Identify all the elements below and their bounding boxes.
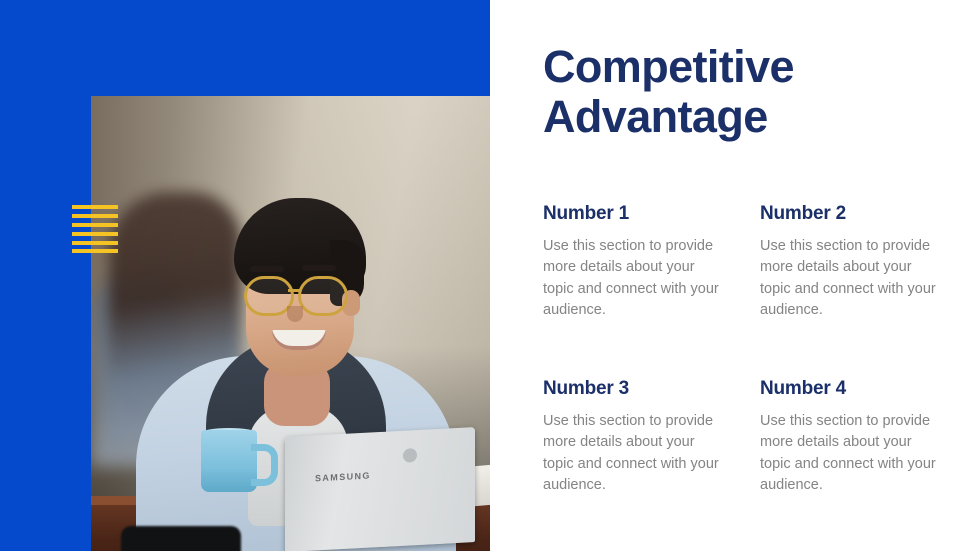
stripe-line [72, 232, 118, 236]
stripe-line [72, 241, 118, 245]
feature-grid: Number 1 Use this section to provide mor… [543, 203, 963, 497]
laptop: SAMSUNG [285, 427, 475, 551]
slide-canvas: SAMSUNG CompetitiveAdvantage Number 1 Us… [0, 0, 980, 551]
feature-heading-3: Number 3 [543, 378, 760, 400]
slide-title-line-2: Advantage [543, 91, 768, 142]
glasses-lens-right [298, 276, 348, 316]
slide-title: CompetitiveAdvantage [543, 42, 943, 143]
feature-item-4: Number 4 Use this section to provide mor… [760, 378, 963, 497]
feature-body-3: Use this section to provide more details… [543, 411, 729, 497]
feature-item-1: Number 1 Use this section to provide mor… [543, 203, 760, 378]
hero-photo: SAMSUNG [91, 96, 490, 551]
feature-body-2: Use this section to provide more details… [760, 236, 946, 322]
feature-item-2: Number 2 Use this section to provide mor… [760, 203, 963, 378]
stripe-line [72, 214, 118, 218]
mug-handle [251, 444, 278, 486]
chair [121, 526, 241, 551]
round-glasses [242, 276, 360, 310]
feature-body-1: Use this section to provide more details… [543, 236, 729, 322]
laptop-brand-label: SAMSUNG [315, 470, 371, 483]
stripe-line [72, 223, 118, 227]
feature-body-4: Use this section to provide more details… [760, 411, 946, 497]
feature-heading-2: Number 2 [760, 203, 963, 225]
feature-item-3: Number 3 Use this section to provide mor… [543, 378, 760, 497]
content-column: CompetitiveAdvantage Number 1 Use this s… [543, 0, 963, 551]
blue-panel-left [0, 0, 91, 551]
stripe-line [72, 205, 118, 209]
stripe-line [72, 249, 118, 253]
eyebrow-right [302, 265, 336, 271]
coffee-mug [201, 430, 257, 492]
eyebrow-left [250, 266, 284, 272]
yellow-stripe-motif [72, 205, 118, 253]
nose [287, 306, 303, 322]
laptop-logo-icon [403, 448, 417, 463]
slide-title-line-1: Competitive [543, 41, 794, 92]
feature-heading-1: Number 1 [543, 203, 760, 225]
feature-heading-4: Number 4 [760, 378, 963, 400]
